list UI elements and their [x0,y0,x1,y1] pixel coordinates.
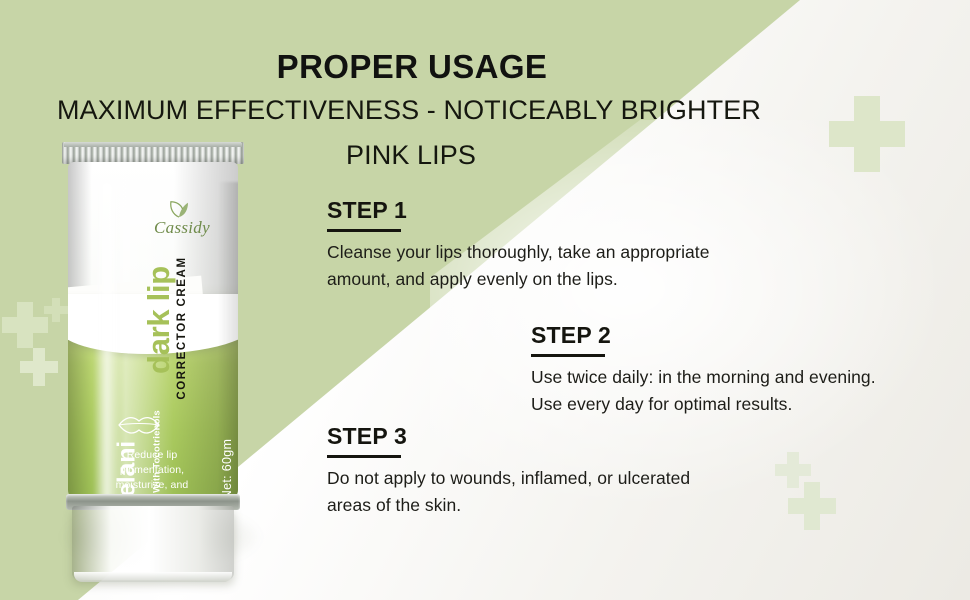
tube-body: Cassidy dark lip CORRECTOR CREAM belani … [68,162,238,500]
step-3-underline [327,455,401,458]
step-1-underline [327,229,401,232]
lips-icon [116,412,162,438]
step-2-title: STEP 2 [531,322,611,354]
page-title: PROPER USAGE [0,48,824,86]
step-3-body: Do not apply to wounds, inflamed, or ulc… [327,465,727,519]
page-subtitle-line1: MAXIMUM EFFECTIVENESS - NOTICEABLY BRIGH… [0,95,818,126]
tube-crimp-top [64,142,242,147]
step-1-body: Cleanse your lips thoroughly, take an ap… [327,239,727,293]
poster-canvas: PROPER USAGE MAXIMUM EFFECTIVENESS - NOT… [0,0,970,600]
step-2-underline [531,354,605,357]
tube-cap [72,506,234,580]
product-type: CORRECTOR CREAM [176,238,188,418]
tube-crimp-seal [62,142,244,164]
step-1-title: STEP 1 [327,197,407,229]
product-tube-image: Cassidy dark lip CORRECTOR CREAM belani … [62,142,244,542]
step-block-3: STEP 3 Do not apply to wounds, inflamed,… [327,423,727,519]
step-block-2: STEP 2 Use twice daily: in the morning a… [531,322,911,418]
step-block-1: STEP 1 Cleanse your lips thoroughly, tak… [327,197,727,293]
leaf-icon [168,200,190,218]
tube-cap-base [74,572,232,582]
product-description: Reduce lip pigmentation, moisturize, and… [104,448,200,500]
step-3-title: STEP 3 [327,423,407,455]
net-weight: Net: 60gm [220,414,234,500]
step-2-body: Use twice daily: in the morning and even… [531,364,911,418]
